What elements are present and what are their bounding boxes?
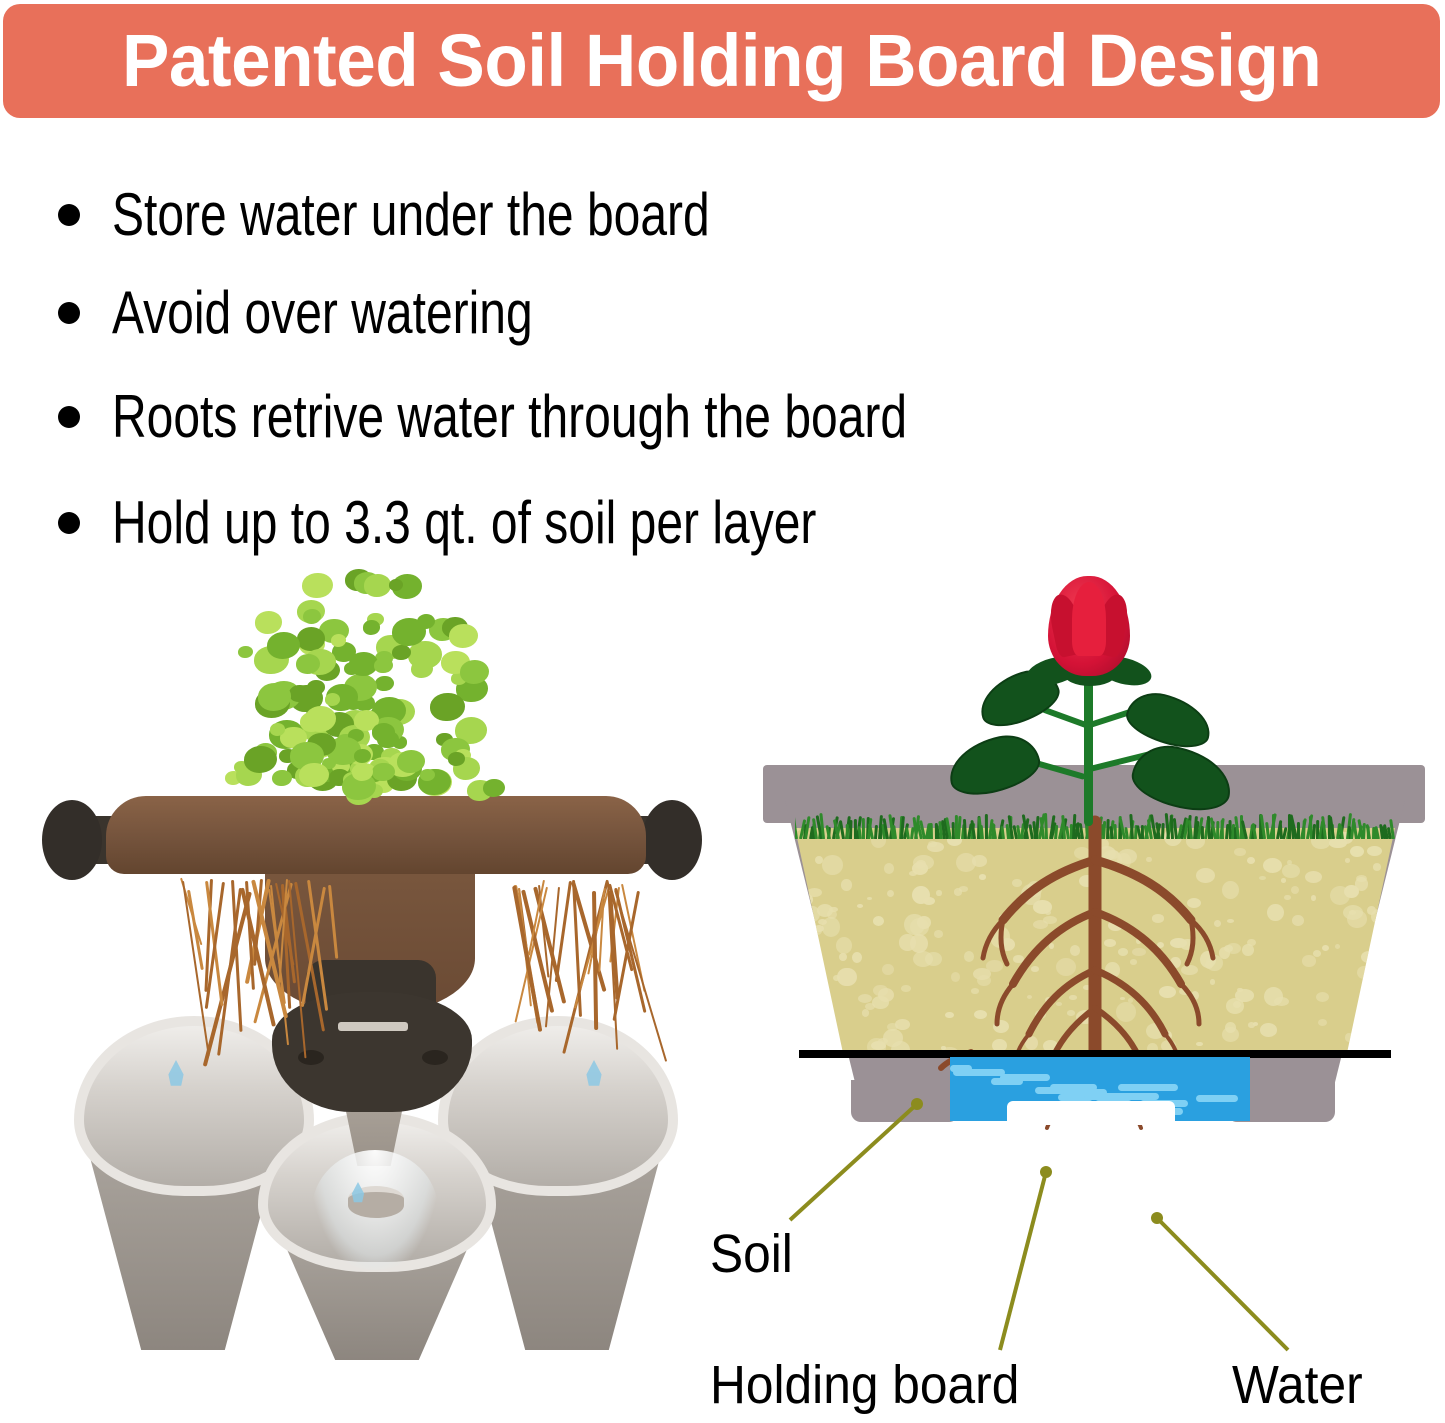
foliage-leaf — [296, 654, 320, 674]
foliage-leaf — [430, 693, 464, 721]
foliage-leaf — [255, 611, 282, 633]
label-holding-board: Holding board — [710, 1358, 1019, 1412]
cross-section-diagram — [755, 560, 1445, 1423]
board-hole — [422, 1050, 448, 1065]
water-wave — [991, 1078, 1023, 1085]
foliage-leaf — [303, 609, 321, 624]
water-wave — [953, 1069, 1004, 1076]
foliage-leaf — [364, 574, 391, 596]
feature-item: Roots retrive water through the board — [58, 387, 1106, 447]
rose-plant — [930, 570, 1260, 820]
feature-item-label: Roots retrive water through the board — [112, 387, 907, 447]
feature-item: Store water under the board — [58, 185, 859, 245]
feature-item-label: Hold up to 3.3 qt. of soil per layer — [112, 493, 816, 553]
root-strand — [328, 884, 338, 958]
rose-petal — [1072, 582, 1106, 656]
water-wave — [1118, 1084, 1166, 1091]
foliage-leaf — [448, 752, 465, 766]
feature-item-label: Avoid over watering — [112, 283, 533, 343]
foliage-leaf — [258, 683, 291, 710]
foliage-leaf — [354, 749, 371, 763]
foliage-leaf — [363, 620, 381, 634]
water-wave — [1084, 1093, 1133, 1100]
foliage-leaf — [389, 579, 403, 591]
foliage-leaf — [270, 723, 285, 736]
plant-foliage — [200, 568, 520, 868]
rose-bud — [1048, 576, 1130, 676]
root-cluster-right — [480, 878, 660, 1078]
feature-item: Avoid over watering — [58, 283, 638, 343]
feature-item: Hold up to 3.3 qt. of soil per layer — [58, 493, 993, 553]
rose-stem — [1084, 666, 1093, 826]
foliage-leaf — [267, 632, 300, 659]
label-water: Water — [1232, 1358, 1363, 1412]
root-cluster-left — [170, 878, 350, 1078]
foliage-leaf — [244, 746, 277, 773]
rose-leaf — [1121, 686, 1216, 753]
water-wave — [1050, 1084, 1097, 1091]
product-photo-stacked-planter — [20, 560, 720, 1360]
foliage-leaf — [411, 660, 434, 679]
board-end-cap — [42, 800, 102, 880]
foliage-leaf — [297, 627, 326, 651]
foliage-leaf — [372, 763, 395, 782]
water-notch — [1007, 1101, 1175, 1125]
foliage-leaf — [483, 779, 505, 797]
foliage-leaf — [460, 660, 489, 684]
bullet-icon — [58, 512, 80, 534]
foliage-leaf — [305, 706, 336, 732]
foliage-leaf — [375, 676, 394, 691]
label-soil: Soil — [710, 1227, 793, 1281]
bullet-icon — [58, 302, 80, 324]
foliage-leaf — [272, 770, 292, 786]
foliage-leaf — [302, 573, 333, 599]
water-wave — [1196, 1095, 1238, 1102]
bullet-icon — [58, 406, 80, 428]
page-title: Patented Soil Holding Board Design — [122, 24, 1321, 98]
bullet-icon — [58, 204, 80, 226]
header-banner: Patented Soil Holding Board Design — [3, 4, 1440, 118]
figures-row — [0, 560, 1445, 1423]
foliage-leaf — [449, 624, 478, 648]
foliage-leaf — [238, 646, 253, 658]
board-end-cap — [642, 800, 702, 880]
rose-leaf — [943, 729, 1044, 801]
foliage-leaf — [397, 750, 425, 773]
foliage-leaf — [374, 658, 393, 674]
feature-item-label: Store water under the board — [112, 185, 710, 245]
foliage-leaf — [392, 645, 411, 661]
